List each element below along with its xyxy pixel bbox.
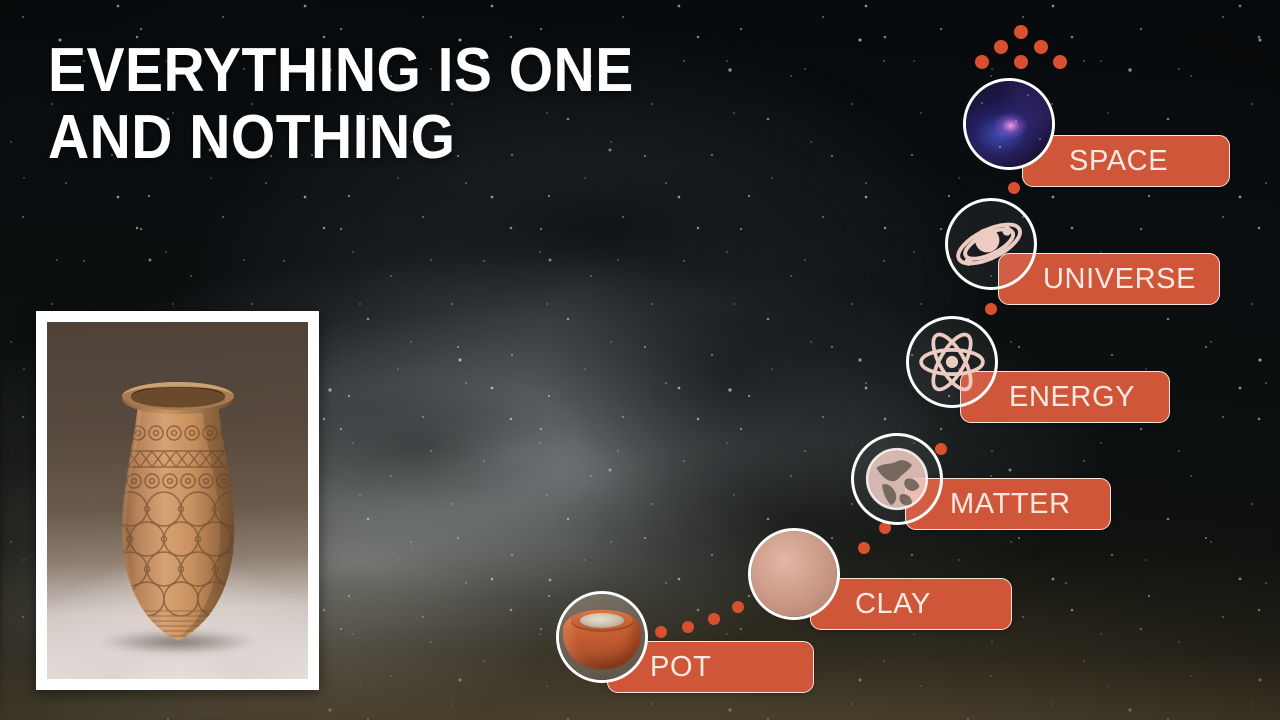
- arrow-dot: [1014, 25, 1028, 39]
- connector-dot: [1008, 182, 1020, 194]
- pot-lid: [580, 613, 624, 628]
- chain-label-clay[interactable]: CLAY: [810, 578, 1012, 630]
- arrow-dot: [1034, 40, 1048, 54]
- clay-pot-photo: [559, 594, 645, 680]
- atom-icon[interactable]: [906, 316, 998, 408]
- connector-dot: [682, 621, 694, 633]
- cracked-earth-texture: [751, 531, 837, 617]
- chain-label-space[interactable]: SPACE: [1022, 135, 1230, 187]
- clay-pot-photo-icon[interactable]: [556, 591, 648, 683]
- globe-glyph: [854, 436, 940, 522]
- arrow-dot: [975, 55, 989, 69]
- connector-dot: [708, 613, 720, 625]
- vessel-illustration: [94, 363, 262, 655]
- atom-glyph: [909, 319, 995, 405]
- slide-canvas: EVERYTHING IS ONE AND NOTHING: [0, 0, 1280, 720]
- slide-title: EVERYTHING IS ONE AND NOTHING: [48, 38, 747, 172]
- vessel-svg: [94, 363, 262, 655]
- planet-orbit-glyph: [948, 201, 1034, 287]
- arrow-dot: [994, 40, 1008, 54]
- nebula-photo-icon[interactable]: [963, 78, 1055, 170]
- connector-dot: [985, 303, 997, 315]
- pottery-photo-frame: [36, 311, 319, 690]
- cracked-earth-photo-icon[interactable]: [748, 528, 840, 620]
- connector-dot: [858, 542, 870, 554]
- arrow-dot: [1014, 55, 1028, 69]
- globe-earth-icon[interactable]: [851, 433, 943, 525]
- arrow-dot: [1053, 55, 1067, 69]
- pottery-photo: [47, 322, 308, 679]
- nebula-texture: [966, 81, 1052, 167]
- connector-dot: [732, 601, 744, 613]
- planet-orbit-icon[interactable]: [945, 198, 1037, 290]
- connector-dot: [655, 626, 667, 638]
